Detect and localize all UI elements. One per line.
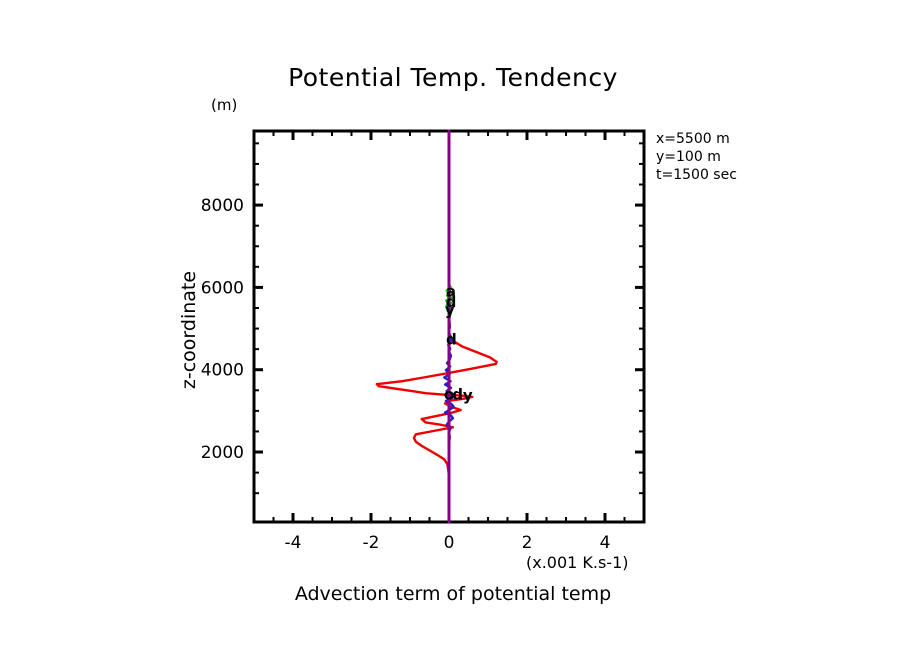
curve-tag: y	[463, 387, 473, 405]
annotation-y: y=100 m	[656, 149, 721, 165]
y-tick-label: 8000	[201, 196, 244, 216]
annotation-t: t=1500 sec	[656, 167, 737, 183]
y-tick-label: 4000	[201, 361, 244, 381]
curve-tag: d	[446, 330, 457, 348]
y-tick-label: 6000	[201, 278, 244, 298]
canvas-background	[0, 0, 904, 654]
curve-tag: y	[445, 301, 455, 319]
x-tick-label: 0	[444, 533, 455, 553]
plot-title: Potential Temp. Tendency	[288, 63, 618, 92]
y-axis-unit-label: (m)	[211, 96, 237, 114]
y-axis-title: z-coordinate	[178, 271, 200, 389]
x-tick-label: 4	[600, 533, 611, 553]
y-tick-label: 2000	[201, 443, 244, 463]
plot-figure: Potential Temp. Tendency (m) -4-2024 200…	[0, 0, 904, 654]
x-tick-label: -2	[363, 533, 380, 553]
annotation-x: x=5500 m	[656, 131, 730, 147]
x-tick-label: 2	[522, 533, 533, 553]
plot-svg: Potential Temp. Tendency (m) -4-2024 200…	[0, 0, 904, 654]
x-axis-title: Advection term of potential temp	[295, 583, 611, 605]
x-tick-label: -4	[285, 533, 302, 553]
x-axis-unit: (x.001 K.s-1)	[526, 553, 629, 572]
curve-tag: d	[452, 385, 463, 403]
